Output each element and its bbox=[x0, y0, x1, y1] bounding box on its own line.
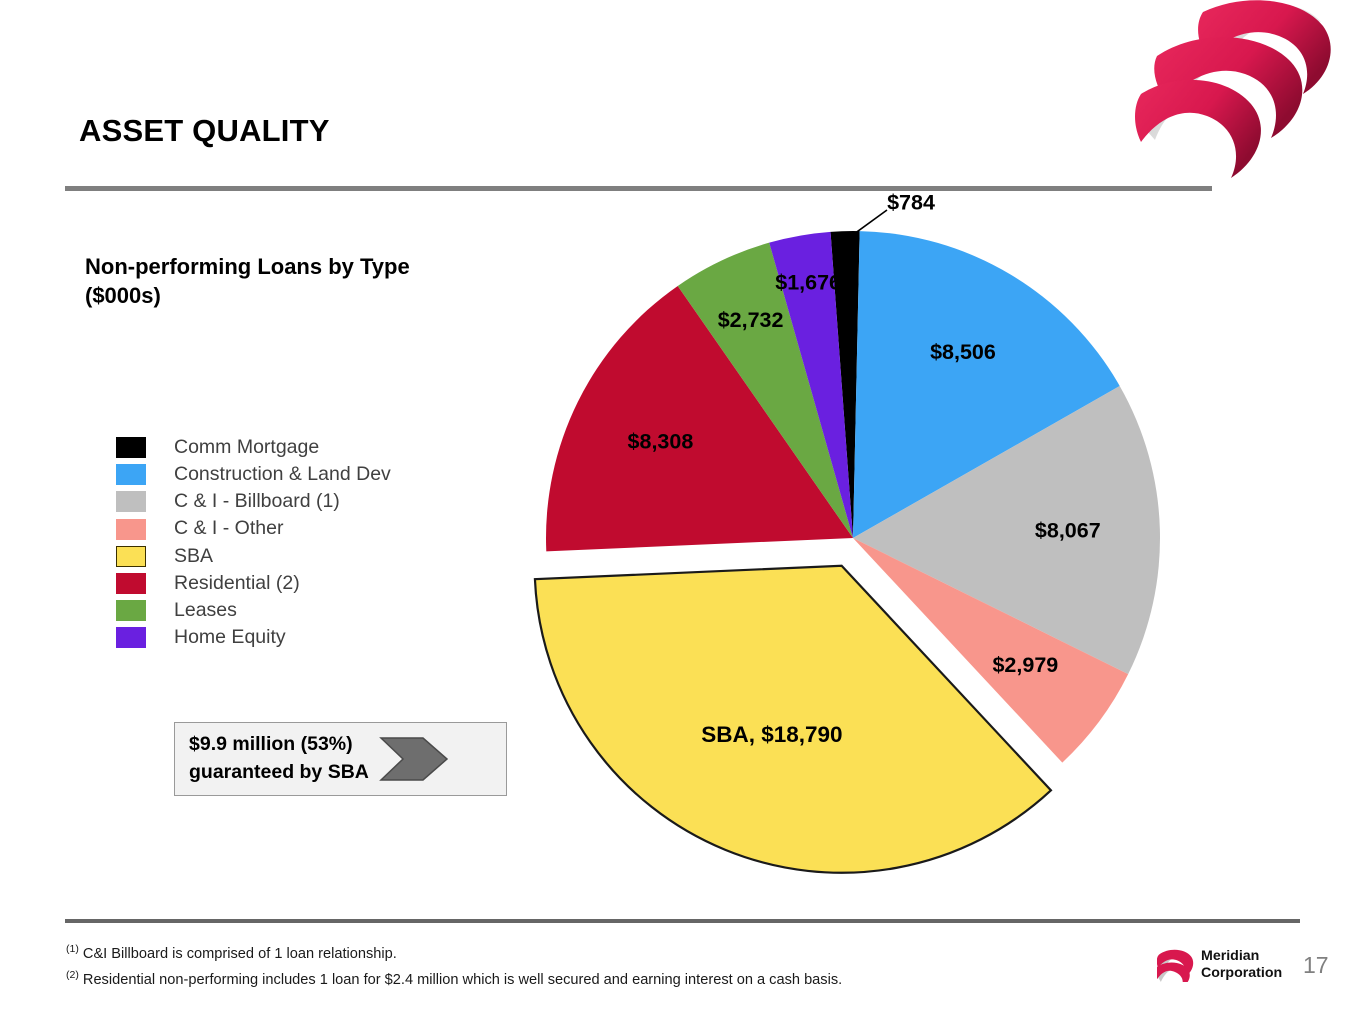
legend-item: Construction & Land Dev bbox=[116, 461, 391, 488]
pie-slice-label: $2,732 bbox=[718, 308, 784, 332]
meridian-globe-icon-small bbox=[1157, 948, 1195, 982]
pie-slice-label: $2,979 bbox=[992, 653, 1058, 677]
callout-text: $9.9 million (53%) guaranteed by SBA bbox=[189, 731, 369, 786]
pie-chart-svg: $784$8,506$8,067$2,979SBA, $18,790$8,308… bbox=[480, 175, 1240, 915]
legend-swatch bbox=[116, 627, 146, 648]
legend-item-label: Residential (2) bbox=[174, 574, 300, 594]
chart-legend: Comm MortgageConstruction & Land DevC & … bbox=[116, 434, 391, 652]
legend-swatch bbox=[116, 519, 146, 540]
legend-item: Leases bbox=[116, 597, 391, 624]
pie-slice-label: $8,308 bbox=[628, 429, 694, 453]
legend-item-label: C & I - Other bbox=[174, 519, 283, 539]
legend-item: Residential (2) bbox=[116, 570, 391, 597]
meridian-globe-icon bbox=[1133, 0, 1365, 193]
legend-item: C & I - Billboard (1) bbox=[116, 488, 391, 515]
chart-heading: Non-performing Loans by Type ($000s) bbox=[85, 252, 515, 311]
footnote-text: Residential non-performing includes 1 lo… bbox=[79, 971, 842, 987]
legend-item-label: Leases bbox=[174, 601, 237, 621]
pie-slice-label: $1,676 bbox=[775, 271, 841, 295]
footnote-marker: (1) bbox=[66, 943, 79, 955]
legend-swatch bbox=[116, 546, 146, 567]
footer-divider bbox=[65, 919, 1300, 923]
legend-item-label: Construction & Land Dev bbox=[174, 465, 391, 485]
legend-swatch bbox=[116, 464, 146, 485]
legend-item: SBA bbox=[116, 543, 391, 570]
footnote-marker: (2) bbox=[66, 969, 79, 981]
pie-slice-label: SBA, $18,790 bbox=[701, 722, 842, 747]
footer-brand: Meridian Corporation bbox=[1157, 948, 1282, 982]
pie-chart: $784$8,506$8,067$2,979SBA, $18,790$8,308… bbox=[480, 175, 1240, 915]
sba-guarantee-callout: $9.9 million (53%) guaranteed by SBA bbox=[174, 722, 507, 796]
pie-slice-label: $8,506 bbox=[930, 340, 996, 364]
page-title: ASSET QUALITY bbox=[79, 113, 330, 149]
legend-swatch bbox=[116, 491, 146, 512]
pie-slice-label: $8,067 bbox=[1035, 518, 1101, 542]
brand-name: Meridian Corporation bbox=[1201, 948, 1282, 982]
footnotes: (1) C&I Billboard is comprised of 1 loan… bbox=[66, 941, 842, 992]
legend-swatch bbox=[116, 437, 146, 458]
legend-item: Comm Mortgage bbox=[116, 434, 391, 461]
slide-canvas: ASSET QUALITY Non-performing Loans by Ty… bbox=[0, 0, 1365, 1024]
legend-item: C & I - Other bbox=[116, 516, 391, 543]
footnote: (2) Residential non-performing includes … bbox=[66, 967, 842, 993]
legend-swatch bbox=[116, 573, 146, 594]
page-number: 17 bbox=[1303, 952, 1329, 979]
pie-slice-label: $784 bbox=[887, 191, 935, 215]
chevron-right-arrow-icon bbox=[379, 736, 449, 782]
legend-item: Home Equity bbox=[116, 624, 391, 651]
legend-item-label: C & I - Billboard (1) bbox=[174, 492, 340, 512]
footnote: (1) C&I Billboard is comprised of 1 loan… bbox=[66, 941, 842, 967]
legend-item-label: Home Equity bbox=[174, 628, 286, 648]
legend-swatch bbox=[116, 600, 146, 621]
footnote-text: C&I Billboard is comprised of 1 loan rel… bbox=[79, 946, 397, 962]
legend-item-label: Comm Mortgage bbox=[174, 438, 319, 458]
legend-item-label: SBA bbox=[174, 547, 213, 567]
